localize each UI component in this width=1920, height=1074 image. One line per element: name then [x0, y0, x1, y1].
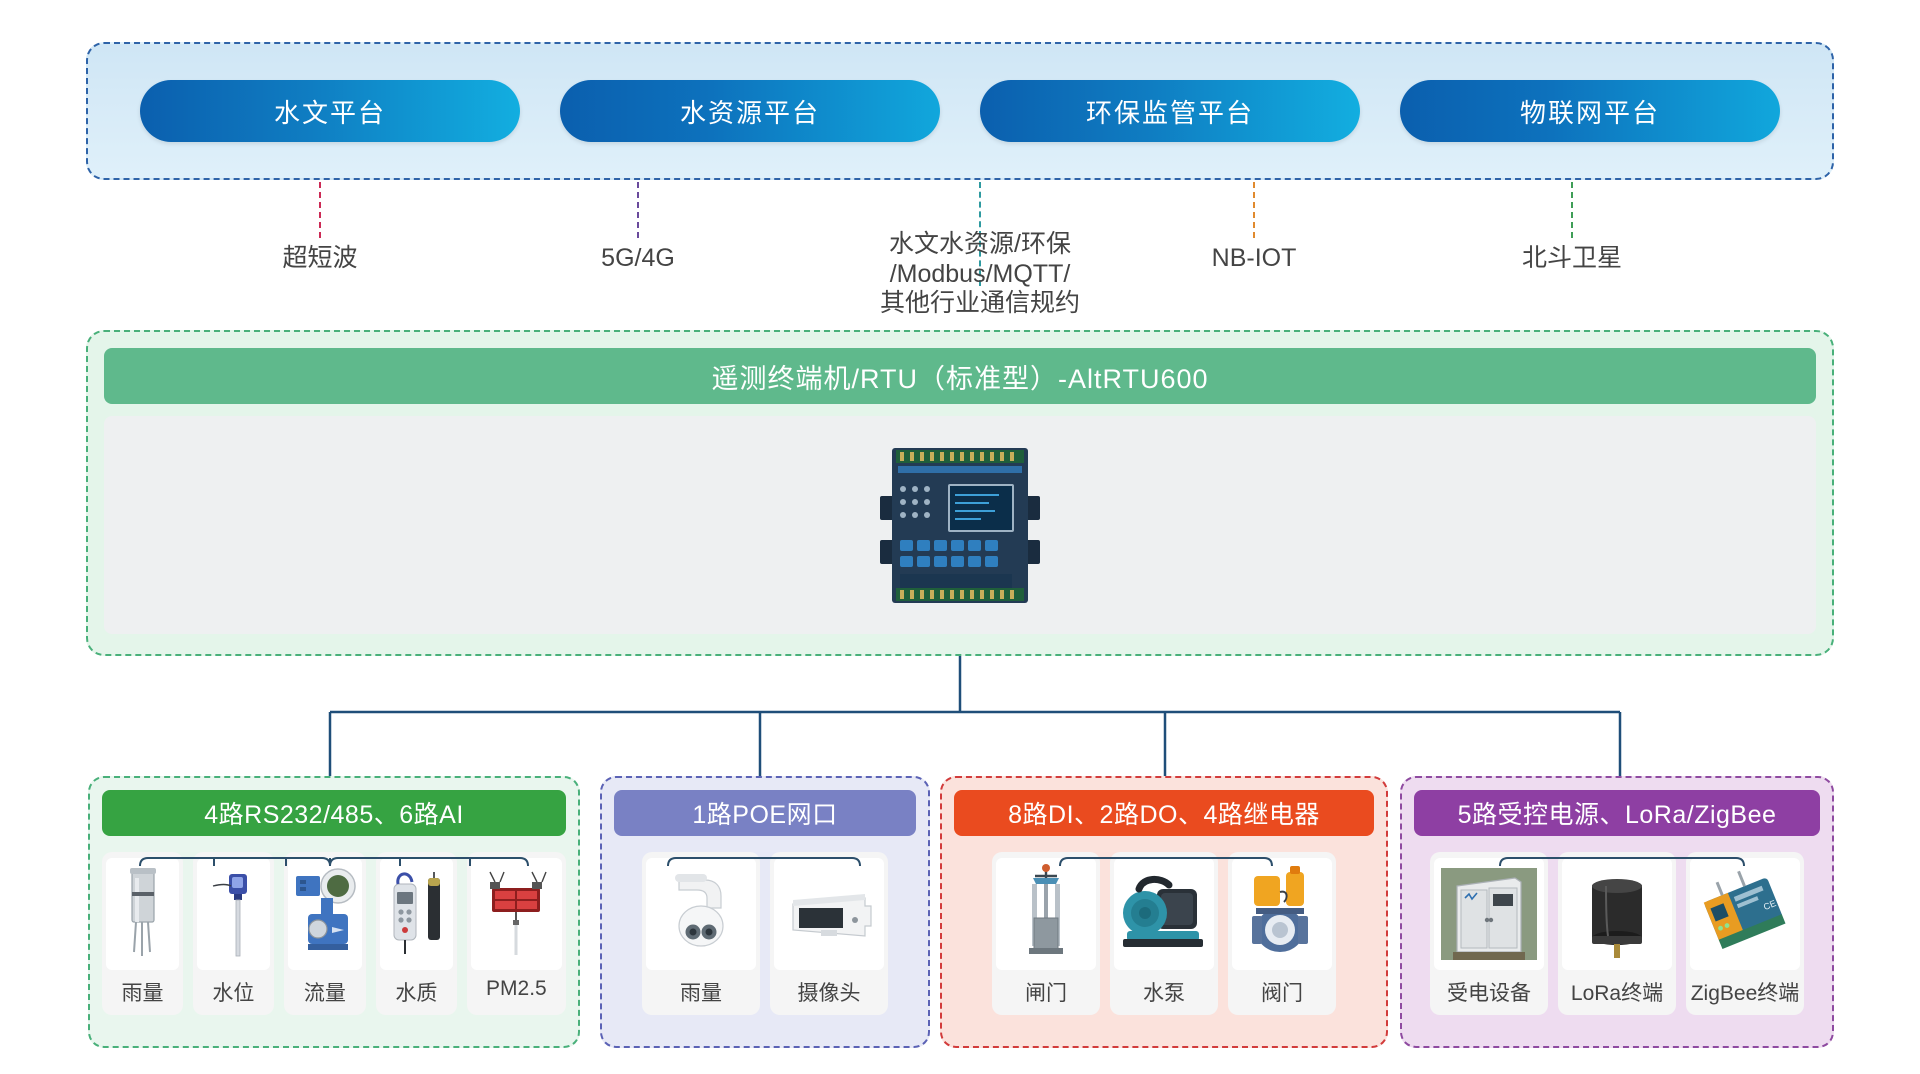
device-label: 阀门 — [1261, 977, 1303, 1007]
device-label: 水泵 — [1143, 977, 1185, 1007]
device-label: PM2.5 — [486, 977, 547, 1001]
group-title: 5路受控电源、LoRa/ZigBee — [1414, 790, 1820, 836]
lora-terminal-icon — [1562, 858, 1672, 970]
device-card-box-camera[interactable]: 摄像头 — [770, 852, 888, 1015]
platform-band: 水文平台 水资源平台 环保监管平台 物联网平台 — [86, 42, 1834, 180]
device-label: 摄像头 — [798, 977, 861, 1007]
device-card-pm25[interactable]: PM2.5 — [467, 852, 566, 1015]
ptz-camera-icon — [646, 858, 756, 970]
pm25-station-icon — [471, 858, 562, 970]
group-title: 1路POE网口 — [614, 790, 916, 836]
water-pump-icon — [1114, 858, 1214, 970]
protocol-label: 北斗卫星 — [1442, 244, 1702, 274]
water-level-sensor-icon — [197, 858, 270, 970]
device-card-water-quality[interactable]: 水质 — [376, 852, 457, 1015]
protocol-link-industry: 水文水资源/环保 /Modbus/MQTT/ 其他行业通信规约 — [830, 182, 1130, 319]
device-card-sluice-gate[interactable]: 闸门 — [992, 852, 1100, 1015]
device-groups: 4路RS232/485、6路AI 雨量 — [0, 776, 1920, 1056]
device-label: ZigBee终端 — [1691, 977, 1800, 1007]
device-card-rain-gauge[interactable]: 雨量 — [102, 852, 183, 1015]
rtu-panel: 遥测终端机/RTU（标准型）-AltRTU600 — [86, 330, 1834, 656]
protocol-label: 5G/4G — [508, 244, 768, 274]
tree-connector — [0, 656, 1920, 776]
protocol-link-zone: 超短波 5G/4G 水文水资源/环保 /Modbus/MQTT/ 其他行业通信规… — [0, 182, 1920, 328]
rtu-device-stage — [104, 416, 1816, 634]
protocol-label: NB-IOT — [1124, 244, 1384, 274]
dashed-connector-line — [1253, 182, 1255, 238]
device-label: 水质 — [395, 977, 437, 1007]
protocol-label: 水文水资源/环保 /Modbus/MQTT/ 其他行业通信规约 — [830, 230, 1130, 319]
rtu-device-icon — [880, 448, 1040, 603]
group-title: 8路DI、2路DO、4路继电器 — [954, 790, 1374, 836]
device-label: 水位 — [212, 977, 254, 1007]
device-card-power-cabinet[interactable]: 受电设备 — [1430, 852, 1548, 1015]
dashed-connector-line — [319, 182, 321, 238]
device-card-water-pump[interactable]: 水泵 — [1110, 852, 1218, 1015]
device-label: 雨量 — [121, 977, 163, 1007]
rain-gauge-icon — [106, 858, 179, 970]
protocol-link-uhf: 超短波 — [190, 182, 450, 274]
dashed-connector-line — [1571, 182, 1573, 238]
rtu-panel-title: 遥测终端机/RTU（标准型）-AltRTU600 — [104, 348, 1816, 404]
valve-icon — [1232, 858, 1332, 970]
protocol-link-nbiot: NB-IOT — [1124, 182, 1384, 274]
sluice-gate-icon — [996, 858, 1096, 970]
group-title: 4路RS232/485、6路AI — [102, 790, 566, 836]
device-label: 雨量 — [680, 977, 722, 1007]
protocol-link-5g4g: 5G/4G — [508, 182, 768, 274]
group-rs232: 4路RS232/485、6路AI 雨量 — [88, 776, 580, 1048]
platform-button-hydrology[interactable]: 水文平台 — [140, 80, 520, 142]
group-poe: 1路POE网口 雨量 — [600, 776, 930, 1048]
device-label: LoRa终端 — [1571, 977, 1663, 1007]
device-card-flow-meter[interactable]: 流量 — [284, 852, 366, 1015]
device-label: 闸门 — [1025, 977, 1067, 1007]
zigbee-terminal-icon: CE — [1690, 858, 1800, 970]
protocol-label: 超短波 — [190, 244, 450, 274]
box-camera-icon — [774, 858, 884, 970]
device-card-water-level[interactable]: 水位 — [193, 852, 274, 1015]
flow-meter-icon — [288, 858, 362, 970]
group-di-do: 8路DI、2路DO、4路继电器 闸门 — [940, 776, 1388, 1048]
device-card-lora-terminal[interactable]: LoRa终端 — [1558, 852, 1676, 1015]
device-label: 流量 — [304, 977, 346, 1007]
protocol-link-beidou: 北斗卫星 — [1442, 182, 1702, 274]
platform-button-environment[interactable]: 环保监管平台 — [980, 80, 1360, 142]
water-quality-meter-icon — [380, 858, 453, 970]
dashed-connector-line — [637, 182, 639, 238]
platform-button-iot[interactable]: 物联网平台 — [1400, 80, 1780, 142]
power-cabinet-icon — [1434, 858, 1544, 970]
platform-button-water-resources[interactable]: 水资源平台 — [560, 80, 940, 142]
device-card-zigbee-terminal[interactable]: CE ZigBee终端 — [1686, 852, 1804, 1015]
device-card-ptz-camera[interactable]: 雨量 — [642, 852, 760, 1015]
device-card-valve[interactable]: 阀门 — [1228, 852, 1336, 1015]
group-power-lora: 5路受控电源、LoRa/ZigBee 受电设备 — [1400, 776, 1834, 1048]
device-label: 受电设备 — [1447, 977, 1531, 1007]
